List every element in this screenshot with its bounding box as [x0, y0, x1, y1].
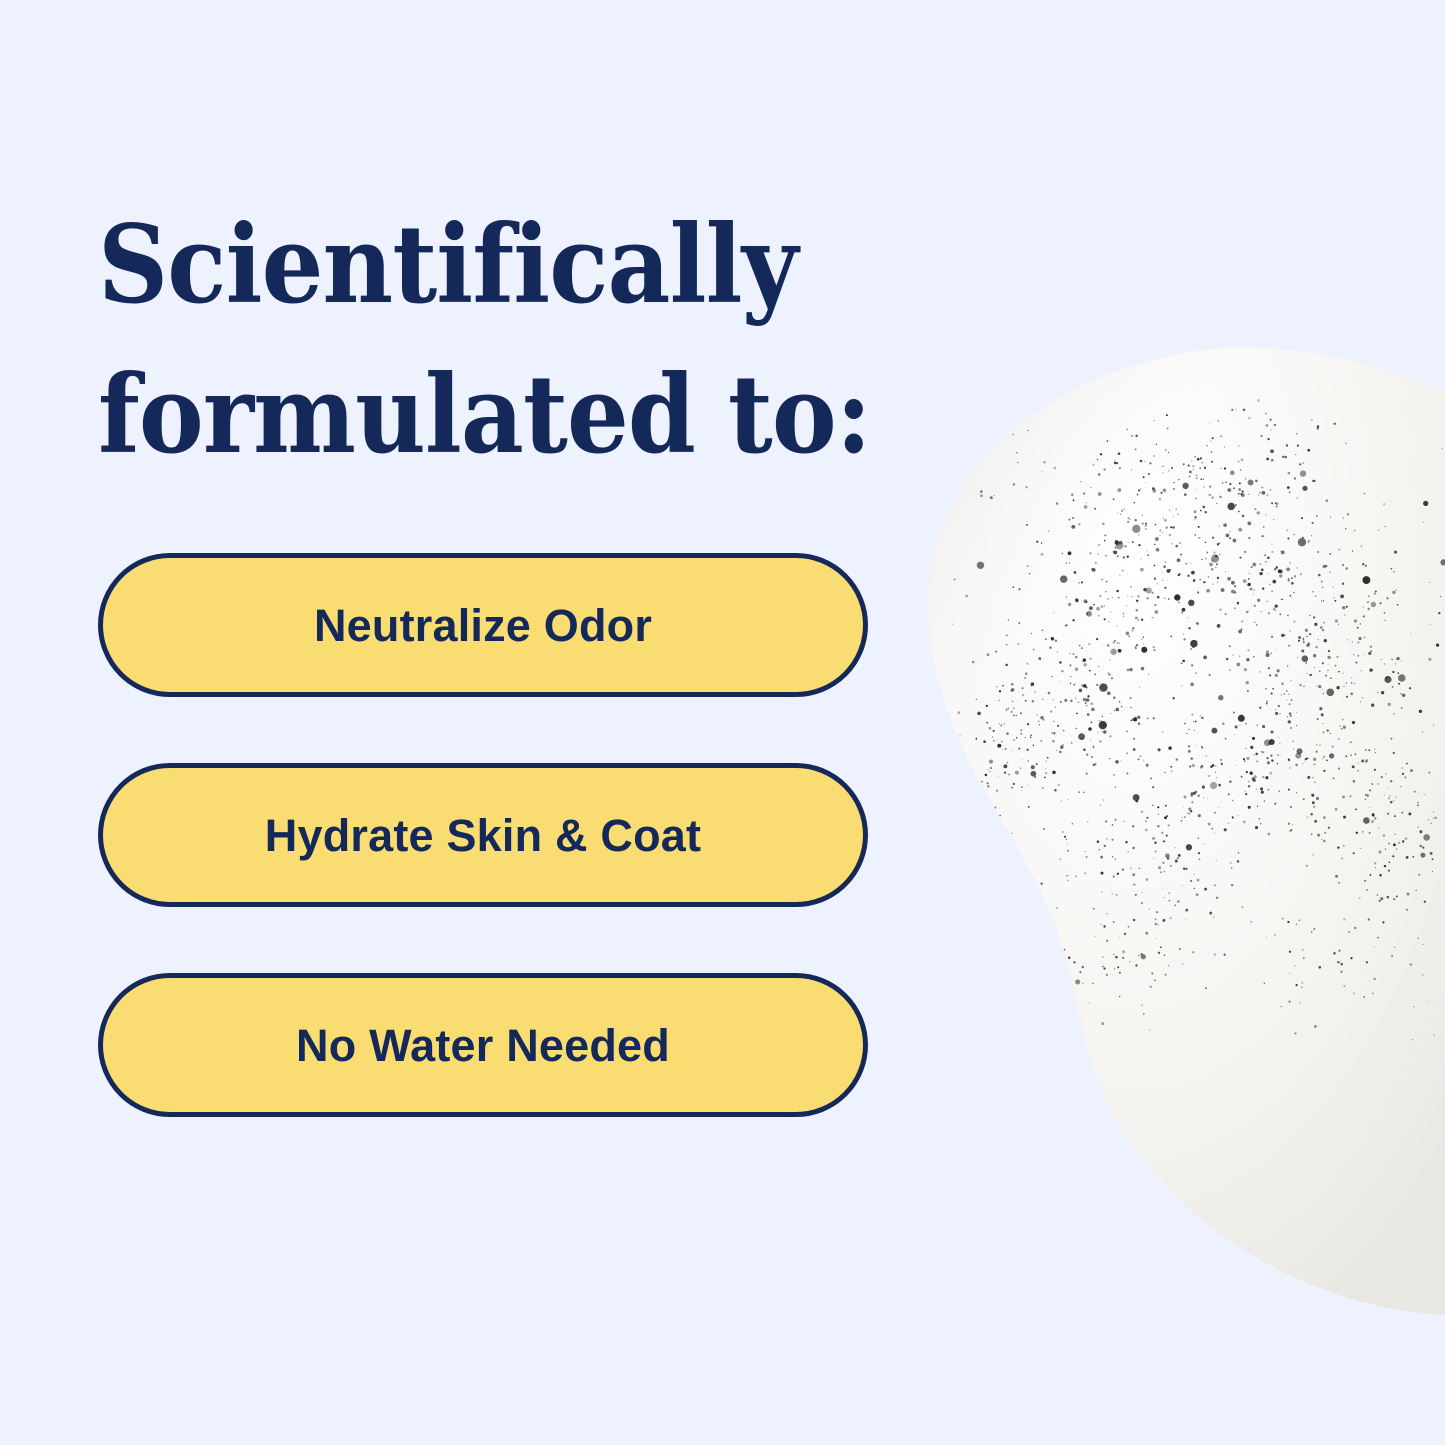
benefit-pill-neutralize-odor[interactable]: Neutralize Odor — [98, 553, 868, 697]
benefit-label: Hydrate Skin & Coat — [265, 813, 701, 858]
benefit-label: Neutralize Odor — [314, 603, 652, 648]
benefit-pill-no-water-needed[interactable]: No Water Needed — [98, 973, 868, 1117]
benefit-list: Neutralize Odor Hydrate Skin & Coat No W… — [98, 553, 868, 1117]
benefit-label: No Water Needed — [296, 1023, 670, 1068]
page-title: Scientificallyformulated to: — [98, 190, 890, 490]
headline-line-2: formulated to: — [98, 340, 890, 490]
headline-line-1: Scientifically — [98, 190, 890, 340]
foam-speckles — [941, 399, 1445, 1040]
infographic-canvas: Scientificallyformulated to: Neutralize … — [0, 0, 1445, 1445]
foam-dollop-shape — [928, 348, 1445, 1315]
benefit-pill-hydrate-skin-and-coat[interactable]: Hydrate Skin & Coat — [98, 763, 868, 907]
